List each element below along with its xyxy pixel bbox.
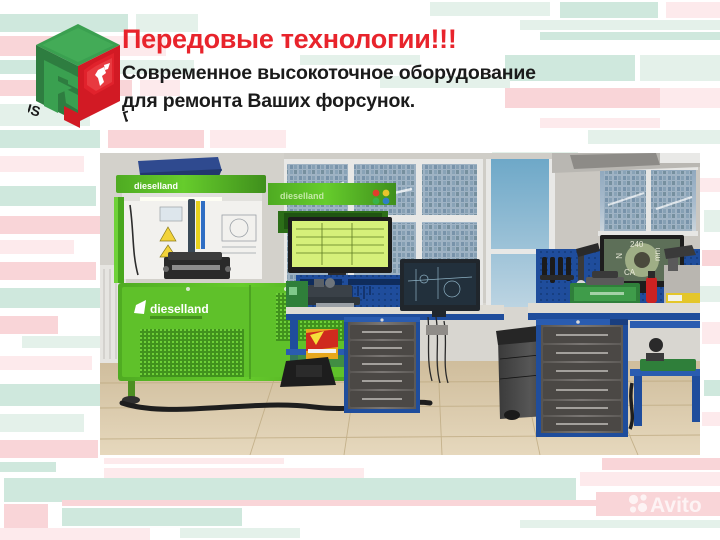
background-bar <box>602 458 720 470</box>
background-bar <box>666 2 720 18</box>
background-bar <box>104 468 364 478</box>
background-bar <box>0 384 100 406</box>
subtitle-line-1: Современное высокоточное оборудование <box>122 61 702 86</box>
background-bar <box>0 216 112 234</box>
avito-watermark: Avito <box>627 492 705 516</box>
svg-text:dieselland: dieselland <box>280 191 324 201</box>
background-bar <box>0 316 58 334</box>
background-bar <box>588 130 720 144</box>
background-bar <box>700 286 720 302</box>
background-bar <box>4 478 326 502</box>
background-bar <box>62 500 362 506</box>
rus-diesel-logo: RUS DIESEL <box>28 18 128 136</box>
headline-block: Передовые технологии!!! Современное высо… <box>122 24 702 114</box>
page-title: Передовые технологии!!! <box>122 24 702 54</box>
background-bar <box>702 412 720 426</box>
background-bar <box>540 118 660 128</box>
listing-image-canvas: RUS DIESEL Передовые технологии!!! Совре… <box>0 0 720 540</box>
svg-text:CA: CA <box>624 268 636 277</box>
background-bar <box>0 528 150 540</box>
svg-text:240: 240 <box>630 240 644 249</box>
background-bar <box>0 156 84 172</box>
background-bar <box>700 178 720 192</box>
svg-text:mm: mm <box>653 247 662 261</box>
svg-text:N: N <box>614 253 623 259</box>
background-bar <box>180 528 300 538</box>
workshop-photograph: dieselland dieselland <box>100 153 700 455</box>
background-bar <box>0 440 98 458</box>
background-bar <box>210 130 286 148</box>
background-bar <box>104 458 284 464</box>
background-bar <box>702 250 720 266</box>
background-bar <box>0 262 96 280</box>
background-bar <box>560 2 658 18</box>
machine-top-brand-text: dieselland <box>134 181 178 191</box>
background-bar <box>326 478 576 502</box>
background-bar <box>22 336 100 348</box>
background-bar <box>0 462 56 472</box>
background-bar <box>704 210 720 232</box>
subtitle-line-2: для ремонта Ваших форсунок. <box>122 89 702 114</box>
background-bar <box>0 288 106 308</box>
background-bar <box>0 356 92 370</box>
avito-wordmark: Avito <box>650 494 702 516</box>
background-bar <box>520 520 720 528</box>
background-bar <box>0 240 74 254</box>
background-bar <box>704 380 720 396</box>
background-bar <box>580 472 720 486</box>
machine-brand-text: dieselland <box>150 302 209 316</box>
background-bar <box>702 322 720 344</box>
background-bar <box>430 2 550 16</box>
background-bar <box>362 500 630 506</box>
background-bar <box>0 414 84 432</box>
background-bar <box>0 186 96 206</box>
background-bar <box>4 504 48 528</box>
background-bar <box>62 508 242 526</box>
